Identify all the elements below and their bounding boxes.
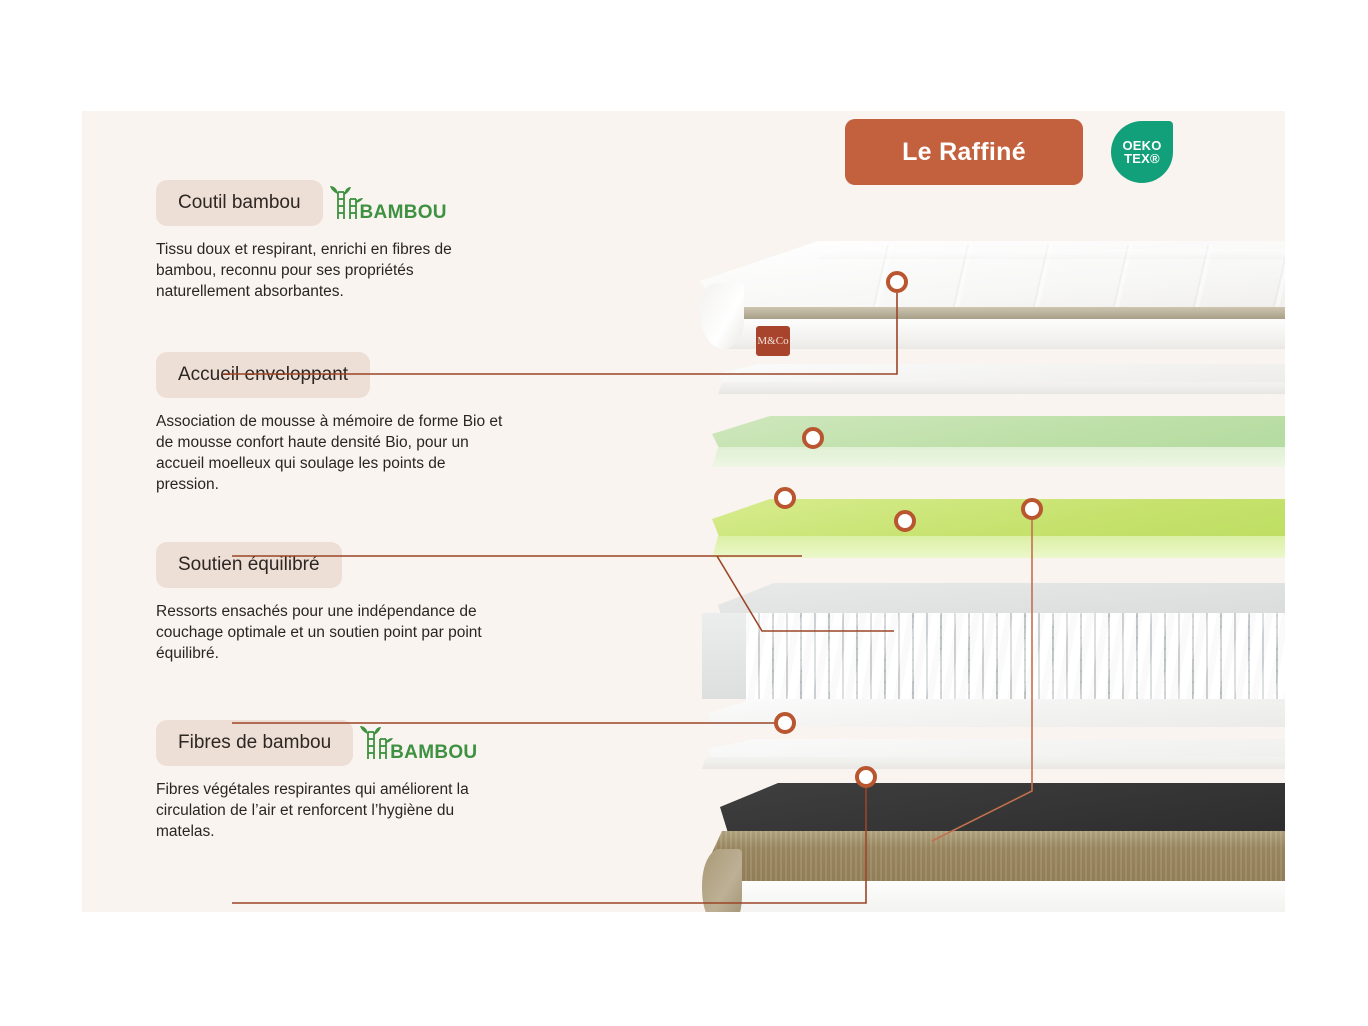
feature-label-accueil-enveloppant: Accueil enveloppant xyxy=(156,352,370,398)
feature-block-fibres-de-bambou: Fibres de bambou BAMBOU xyxy=(156,720,516,842)
marker-foam-lower[interactable] xyxy=(894,510,916,532)
bamboo-stalk-icon-secondary xyxy=(359,723,393,763)
feature-description-fibres-de-bambou: Fibres végétales respirantes qui amélior… xyxy=(156,779,504,842)
marker-cover[interactable] xyxy=(886,271,908,293)
bamboo-logo-label-secondary: BAMBOU xyxy=(390,743,477,762)
oeko-tex-line2: TEX® xyxy=(1124,152,1160,165)
oeko-tex-logo: OEKO TEX® xyxy=(1111,121,1173,183)
feature-block-coutil-bambou: Coutil bambou BAMBOU xyxy=(156,180,516,302)
marker-springs-main[interactable] xyxy=(774,712,796,734)
feature-description-accueil-enveloppant: Association de mousse à mémoire de forme… xyxy=(156,411,504,495)
feature-description-soutien-equilibre: Ressorts ensachés pour une indépendance … xyxy=(156,601,504,664)
leader-lines xyxy=(602,231,1285,871)
feature-label-coutil-bambou: Coutil bambou xyxy=(156,180,323,226)
bamboo-logo: BAMBOU xyxy=(329,183,447,223)
bamboo-stalk-icon xyxy=(329,183,363,223)
marker-foam-upper[interactable] xyxy=(802,427,824,449)
bamboo-logo-label: BAMBOU xyxy=(360,203,447,222)
feature-description-coutil-bambou: Tissu doux et respirant, enrichi en fibr… xyxy=(156,239,504,302)
feature-label-soutien-equilibre: Soutien équilibré xyxy=(156,542,342,588)
page-title: Le Raffiné xyxy=(902,138,1026,167)
content-panel: Le Raffiné OEKO TEX® xyxy=(82,111,1285,912)
marker-springs[interactable] xyxy=(774,487,796,509)
marker-cover-secondary[interactable] xyxy=(1021,498,1043,520)
feature-block-soutien-equilibre: Soutien équilibré Ressorts ensachés pour… xyxy=(156,542,516,664)
oeko-tex-drop-shape: OEKO TEX® xyxy=(1111,121,1173,183)
leader-line-diagonal xyxy=(932,509,1032,841)
infographic-root: Le Raffiné OEKO TEX® xyxy=(0,0,1368,1026)
mattress-exploded-view: M&Co xyxy=(602,231,1285,871)
bamboo-logo-secondary: BAMBOU xyxy=(359,723,477,763)
product-title-badge: Le Raffiné xyxy=(845,119,1083,185)
feature-label-fibres-de-bambou: Fibres de bambou xyxy=(156,720,353,766)
leader-line-foam-lower-a xyxy=(717,556,894,631)
marker-base[interactable] xyxy=(855,766,877,788)
